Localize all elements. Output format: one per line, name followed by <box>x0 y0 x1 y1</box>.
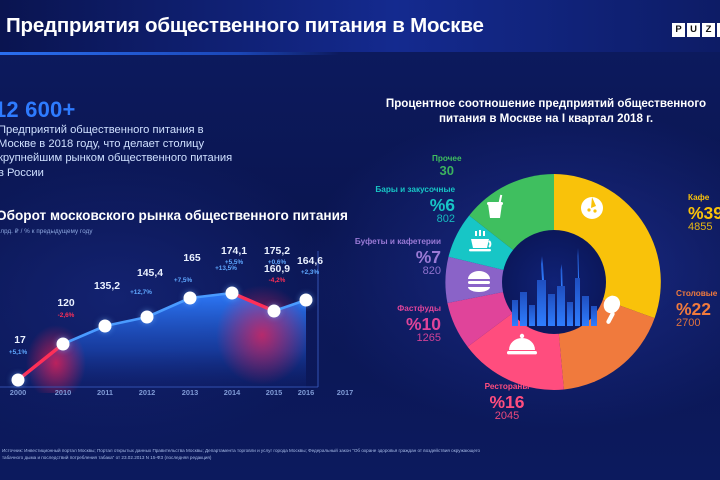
value-label: 145,4 <box>137 268 163 279</box>
footnote-line-1: Источник: Инвестиционный портал Москвы; … <box>2 447 718 454</box>
data-point[interactable] <box>184 292 197 305</box>
label-percent: %22 <box>676 300 717 318</box>
label-category: Кафе <box>688 194 720 203</box>
label-category: Буфеты и кафетерии <box>316 238 441 247</box>
data-point[interactable] <box>99 320 112 333</box>
value-label: 120 <box>57 298 74 309</box>
value-label: 135,2 <box>94 281 120 292</box>
value-label: 17 <box>14 335 26 346</box>
x-tick: 2010 <box>55 388 71 397</box>
data-point[interactable] <box>141 311 154 324</box>
label-count: 30 <box>432 164 462 178</box>
label-category: Рестораны <box>452 383 562 392</box>
value-label: 160,9 <box>264 264 290 275</box>
line-chart-subtitle: млрд. ₽ / % к предыдущему году <box>0 228 93 235</box>
data-point[interactable] <box>300 294 313 307</box>
donut-label-other: Прочее 30 <box>432 155 462 177</box>
growth-label: -2,6% <box>58 312 75 319</box>
x-axis: 2000 2010 2011 2012 2013 2014 2015 2016 … <box>0 388 340 404</box>
growth-label: +5,5% <box>225 259 243 266</box>
label-count: 2045 <box>452 411 562 422</box>
data-point[interactable] <box>12 374 25 387</box>
donut-label-bars: Бары и закусочные %6 802 <box>330 186 455 225</box>
data-point[interactable] <box>226 287 239 300</box>
label-count: 820 <box>316 266 441 277</box>
value-label: 175,2 <box>264 246 290 257</box>
logo-letter: U <box>687 23 700 37</box>
x-tick: 2017 <box>337 388 353 397</box>
footnote-line-2: табачного дыма и последствий потребления… <box>2 454 718 461</box>
headline-number: 12 600+ <box>0 97 76 123</box>
growth-label: -4,2% <box>269 277 286 284</box>
pizza-icon <box>581 197 603 219</box>
data-point[interactable] <box>268 305 281 318</box>
logo-letter: P <box>672 23 685 37</box>
donut-label-buffets: Буфеты и кафетерии %7 820 <box>316 238 441 277</box>
donut-label-restaurants: Рестораны %16 2045 <box>452 383 562 422</box>
puzzle-logo: P U Z Z <box>672 23 720 37</box>
source-footnote: Источник: Инвестиционный портал Москвы; … <box>2 447 718 462</box>
label-count: 2700 <box>676 318 717 329</box>
donut-label-cafe: Кафе %39 4855 <box>688 194 720 233</box>
intro-paragraph: Предприятий общественного питания в Моск… <box>0 123 238 180</box>
label-category: Бары и закусочные <box>330 186 455 195</box>
logo-letter: Z <box>702 23 715 37</box>
x-tick: 2014 <box>224 388 240 397</box>
page-title: Предприятия общественного питания в Моск… <box>6 14 484 38</box>
burger-icon <box>468 271 490 292</box>
donut-chart <box>432 160 676 404</box>
label-percent: %6 <box>330 196 455 214</box>
x-tick: 2013 <box>182 388 198 397</box>
label-category: Фастфуды <box>316 305 441 314</box>
line-chart-title: Оборот московского рынка общественного п… <box>0 208 348 223</box>
label-count: 4855 <box>688 222 720 233</box>
donut-label-fastfood: Фастфуды %10 1265 <box>316 305 441 344</box>
label-count: 802 <box>330 214 455 225</box>
infographic-root: Предприятия общественного питания в Моск… <box>0 0 720 480</box>
label-category: Столовые <box>676 290 717 299</box>
growth-label: +12,7% <box>130 289 152 296</box>
value-label: 165 <box>183 253 200 264</box>
growth-label: +7,5% <box>174 277 192 284</box>
x-tick: 2015 <box>266 388 282 397</box>
label-count: 1265 <box>316 333 441 344</box>
donut-title-line1: Процентное соотношение предприятий общес… <box>386 97 706 110</box>
label-percent: %39 <box>688 204 720 222</box>
x-tick: 2011 <box>97 388 113 397</box>
label-percent: %16 <box>452 393 562 411</box>
x-tick: 2000 <box>10 388 26 397</box>
value-label: 174,1 <box>221 246 247 257</box>
growth-label: +5,1% <box>9 349 27 356</box>
x-tick: 2016 <box>298 388 314 397</box>
data-point[interactable] <box>57 338 70 351</box>
donut-label-canteens: Столовые %22 2700 <box>676 290 717 329</box>
growth-label: +13,5% <box>215 265 237 272</box>
x-tick: 2012 <box>139 388 155 397</box>
donut-title-line2: питания в Москве на I квартал 2018 г. <box>439 112 653 125</box>
donut-chart-svg <box>432 160 676 404</box>
label-percent: %7 <box>316 248 441 266</box>
donut-chart-title: Процентное соотношение предприятий общес… <box>372 96 720 126</box>
label-percent: %10 <box>316 315 441 333</box>
header-underline <box>0 52 340 55</box>
